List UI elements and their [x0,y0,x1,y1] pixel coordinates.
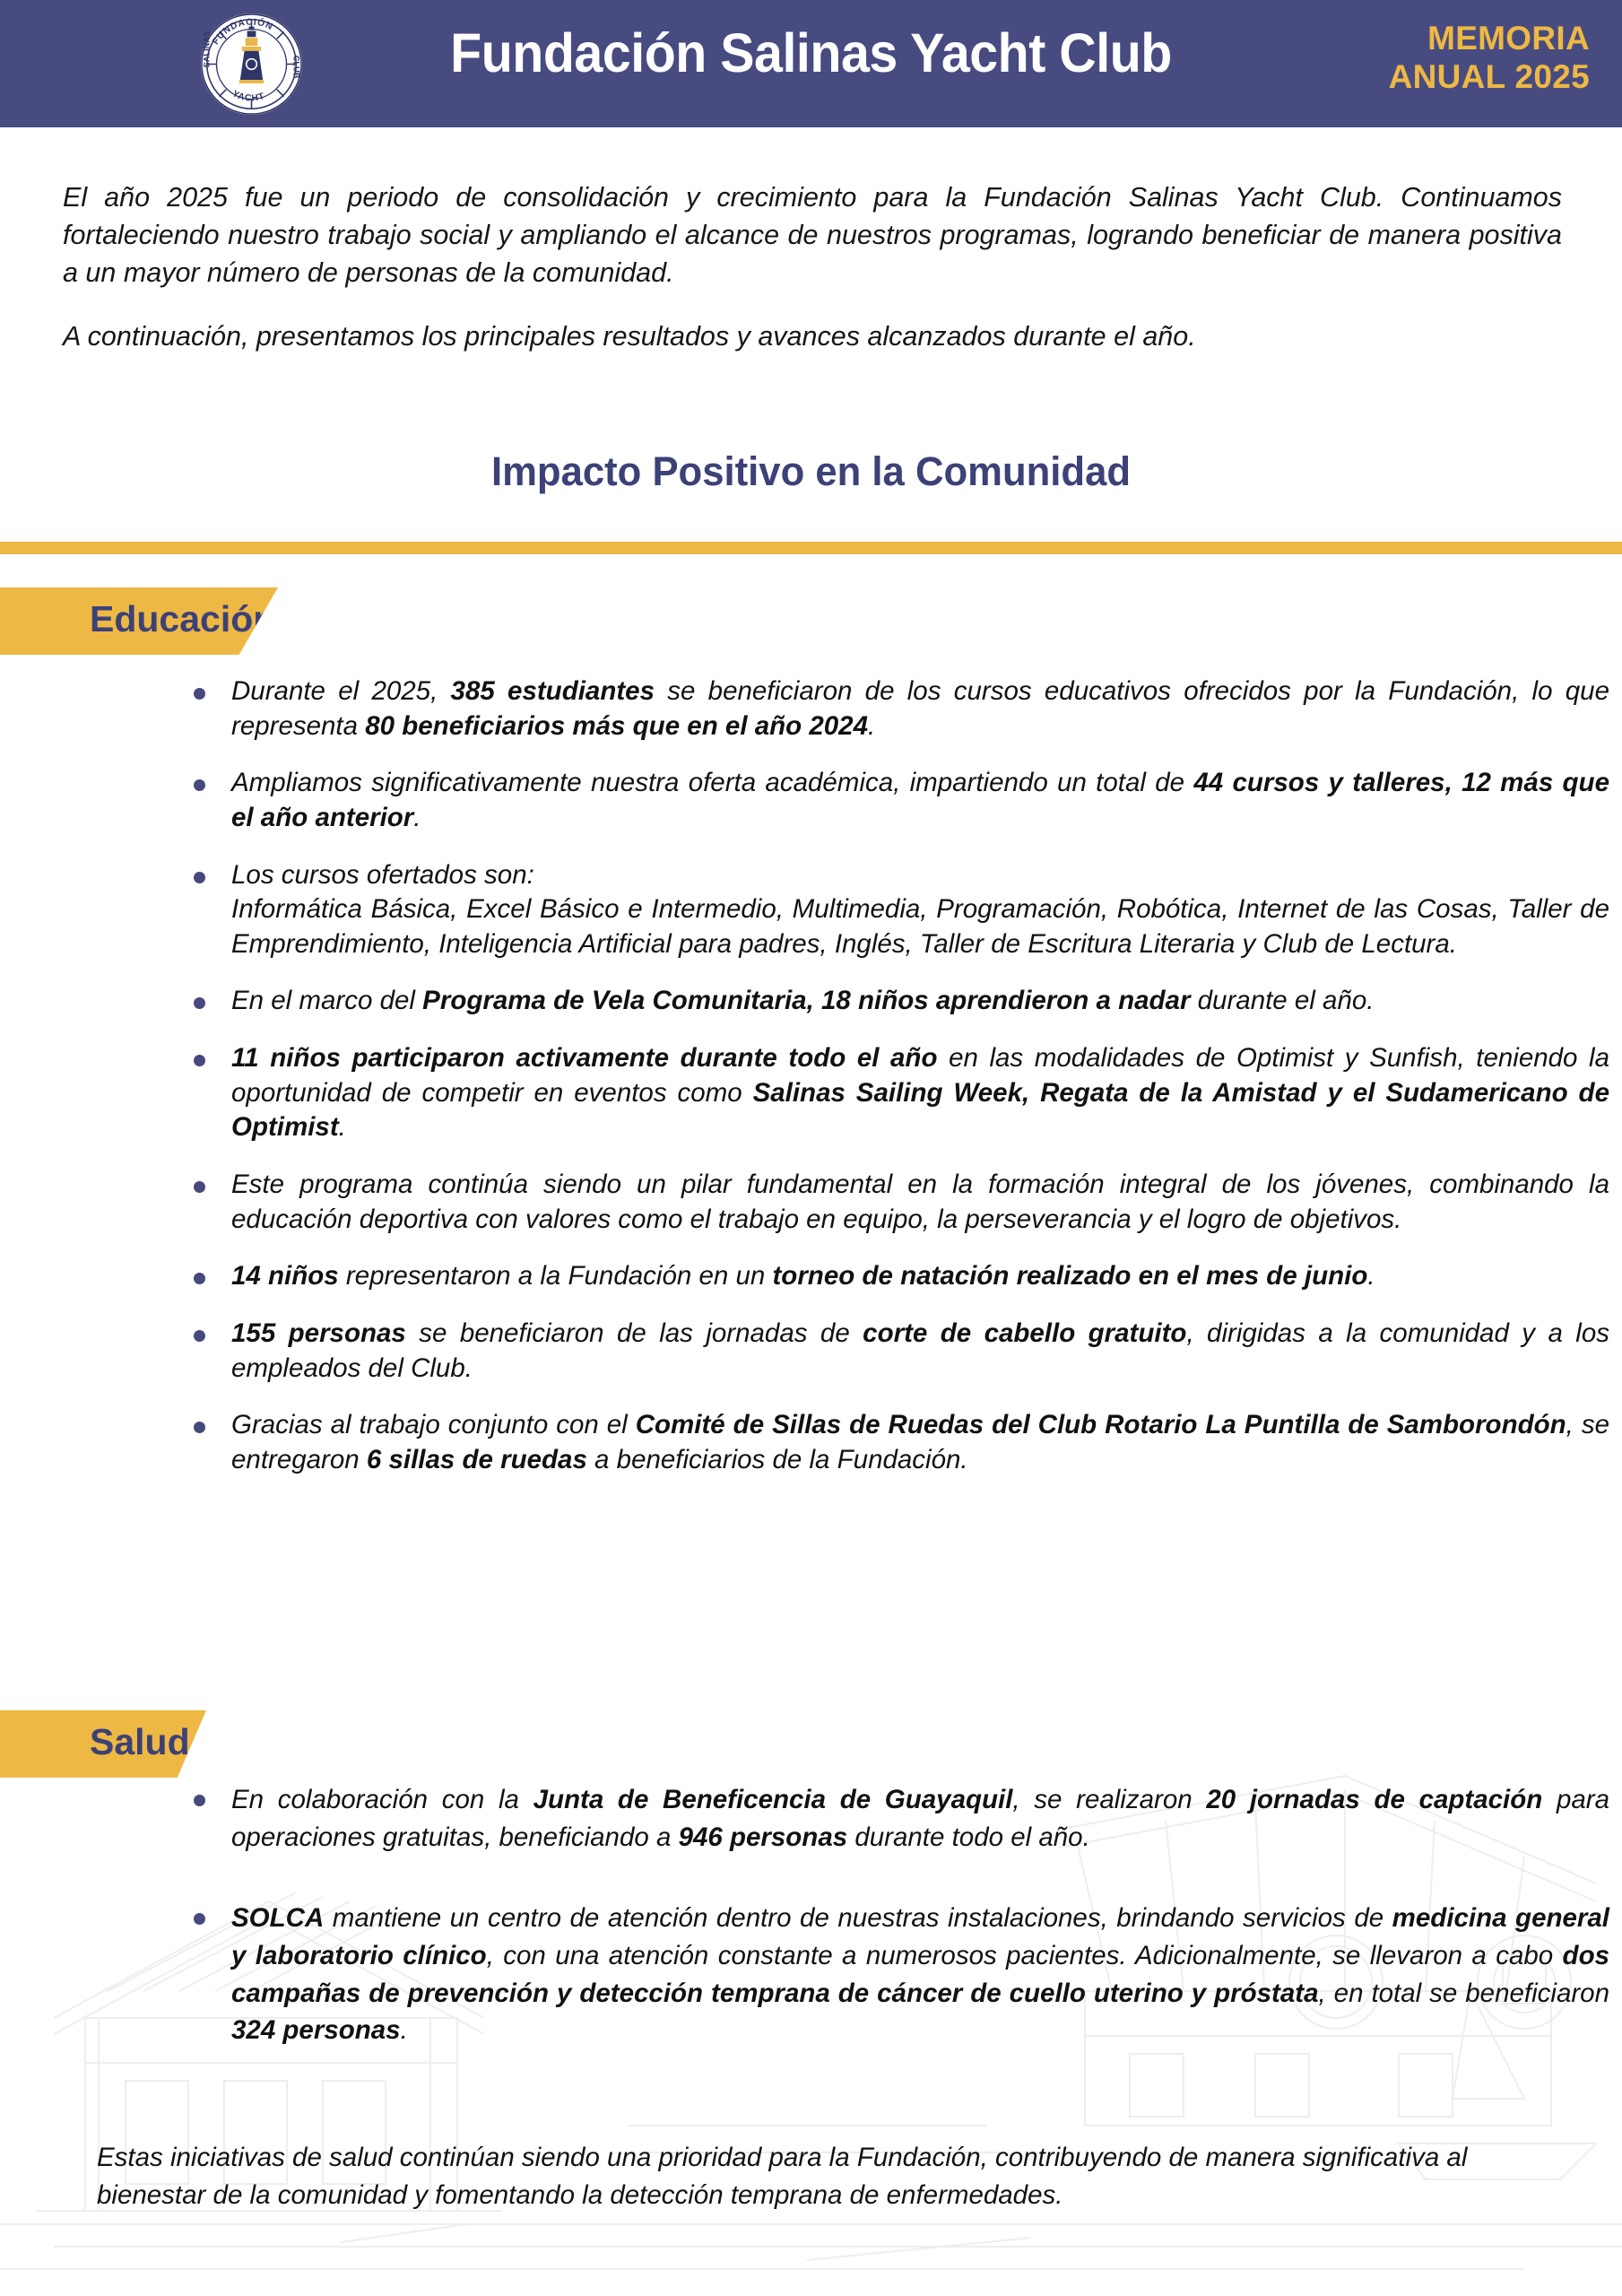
list-item: Los cursos ofertados son:Informática Bás… [179,858,1609,962]
report-edition-line2: ANUAL 2025 [1389,58,1590,97]
category-tab-salud: Salud [0,1710,206,1778]
body-text: mantiene un centro de atención dentro de… [324,1903,1392,1933]
list-item: En colaboración con la Junta de Benefice… [179,1781,1609,1857]
body-text: se beneficiaron de las jornadas de [406,1318,863,1348]
body-text: . [339,1112,346,1142]
list-item: 14 niños representaron a la Fundación en… [179,1259,1609,1294]
highlight-text: 155 personas [231,1318,406,1348]
highlight-text: 14 niños [231,1261,339,1291]
body-text: Este programa continúa siendo un pilar f… [231,1170,1609,1234]
body-text: Durante el 2025, [231,676,451,706]
body-text: . [868,711,875,741]
body-text: . [413,803,421,832]
salud-bullet-list: En colaboración con la Junta de Benefice… [179,1781,1609,2092]
closing-paragraph: Estas iniciativas de salud continúan sie… [97,2139,1567,2214]
category-tab-educacion-label: Educación [0,601,275,638]
highlight-text: Comité de Sillas de Ruedas del Club Rota… [636,1410,1566,1439]
body-text: En colaboración con la [231,1785,533,1814]
body-text: En el marco del [231,986,422,1015]
educacion-bullet-list: Durante el 2025, 385 estudiantes se bene… [179,674,1609,1500]
body-text: , en total se beneficiaron [1319,1979,1609,2008]
report-edition-label: MEMORIA ANUAL 2025 [1389,20,1590,96]
highlight-text: Junta de Beneficencia de Guayaquil [533,1785,1013,1814]
list-item: SOLCA mantiene un centro de atención den… [179,1900,1609,2050]
body-text: Los cursos ofertados son: [231,860,534,890]
highlight-text: 80 beneficiarios más que en el año 2024 [365,711,868,741]
body-text: Gracias al trabajo conjunto con el [231,1410,636,1439]
highlight-text: 324 personas [231,2015,401,2045]
body-text: durante todo el año. [847,1822,1090,1852]
yellow-divider-bar [0,542,1622,554]
body-text: representaron a la Fundación en un [339,1261,773,1291]
list-item: Gracias al trabajo conjunto con el Comit… [179,1408,1609,1477]
highlight-text: 6 sillas de ruedas [367,1445,587,1474]
list-item: 155 personas se beneficiaron de las jorn… [179,1317,1609,1386]
report-edition-line1: MEMORIA [1389,20,1590,58]
highlight-text: 946 personas [679,1822,848,1852]
section-heading: Impacto Positivo en la Comunidad [24,448,1598,495]
page-title: Fundación Salinas Yacht Club [48,22,1573,84]
highlight-text: 385 estudiantes [451,676,655,706]
category-tab-salud-label: Salud [0,1724,190,1761]
highlight-text: Programa de Vela Comunitaria, 18 niños a… [422,986,1190,1015]
list-item: Ampliamos significativamente nuestra ofe… [179,766,1609,835]
list-item: Este programa continúa siendo un pilar f… [179,1168,1609,1237]
category-tab-educacion: Educación [0,587,278,655]
body-text: durante el año. [1190,986,1374,1015]
highlight-text: 20 jornadas de captación [1206,1785,1542,1814]
body-text: Ampliamos significativamente nuestra ofe… [231,768,1193,797]
introduction-block: El año 2025 fue un periodo de consolidac… [63,179,1562,356]
list-item: Durante el 2025, 385 estudiantes se bene… [179,674,1609,744]
highlight-text: torneo de natación realizado en el mes d… [772,1261,1367,1291]
body-text: , con una atención constante a numerosos… [487,1941,1563,1970]
intro-paragraph-2: A continuación, presentamos los principa… [63,318,1562,356]
body-text: Informática Básica, Excel Básico e Inter… [231,894,1609,959]
highlight-text: 11 niños participaron activamente durant… [231,1043,937,1073]
page-header: FUNDACIÓN YACHT SALINAS CLUB Fundación S… [0,0,1622,127]
intro-paragraph-1: El año 2025 fue un periodo de consolidac… [63,179,1562,291]
list-item: 11 niños participaron activamente durant… [179,1041,1609,1145]
body-text: , se realizaron [1012,1785,1206,1814]
highlight-text: SOLCA [231,1903,324,1933]
body-text: . [1367,1261,1375,1291]
body-text: . [401,2015,408,2045]
highlight-text: corte de cabello gratuito [863,1318,1186,1348]
annual-report-page: FUNDACIÓN YACHT SALINAS CLUB Fundación S… [0,0,1622,2296]
body-text: a beneficiarios de la Fundación. [587,1445,968,1474]
list-item: En el marco del Programa de Vela Comunit… [179,984,1609,1019]
